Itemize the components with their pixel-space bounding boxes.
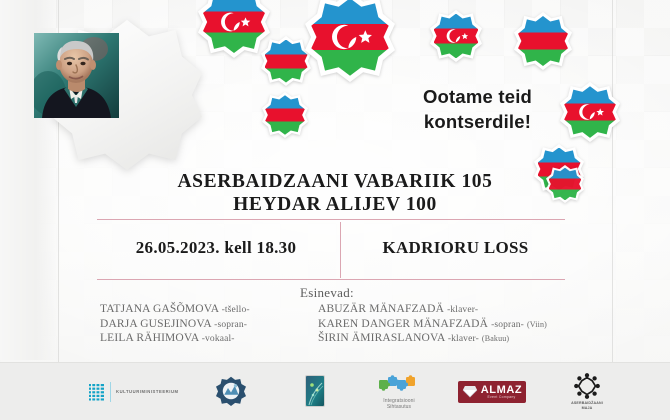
list-item: LEILA RÄHIMOVA -vokaal- [100,332,250,347]
performer-city: (Bakuu) [482,334,509,343]
logo-integratsiooni-sihtasutus: Integratsiooni Sihtasutus [356,374,442,410]
flag-star-shape [198,0,270,58]
flag-star-top-left [198,0,270,58]
puzzle-pieces-icon [378,374,420,396]
list-item: ABUZÄR MÄNAFZADÄ -klaver- [318,303,547,318]
logo-label: Integratsiooni Sihtasutus [383,398,414,410]
performers-heading: Esinevad: [300,285,354,301]
logo-ornament [188,376,274,408]
divider-top [97,219,565,220]
headline-line-2: HEYDAR ALIJEV 100 [0,193,670,216]
flag-star-small-upper [261,36,311,86]
crescent-star-emblem-icon [305,0,395,82]
performer-name: LEILA RÄHIMOVA [100,332,199,344]
divider-vertical [340,222,341,278]
flag-bands [265,40,308,83]
performer-role: -tšello- [222,305,250,315]
flag-star-shape [262,92,308,138]
page-title: ASERBAIDZAANI VABARIIK 105 HEYDAR ALIJEV… [0,170,670,216]
crescent-star-emblem-icon [198,0,270,58]
performer-name: KAREN DANGER MÄNAFZADÄ [318,318,488,330]
logo-teal-banner [274,375,356,409]
logo-almaz: ALMAZ Event Company [442,381,542,403]
performer-role: -sopran- [214,320,247,330]
performer-role: -vokaal- [202,334,235,344]
logo-label: ASERBAIDŽAANI MAJA [571,401,603,410]
headline-line-1: ASERBAIDZAANI VABARIIK 105 [0,170,670,193]
logo-label: ALMAZ [481,385,523,395]
crescent-star-emblem-icon [560,82,620,142]
flag-star-shape [430,10,482,62]
tagline: Ootame teid kontserdile! [390,84,565,134]
flag-star-right-upper [514,12,572,70]
event-datetime: 26.05.2023. kell 18.30 [97,238,335,258]
logo-divider [110,382,111,402]
flag-star-top-right [430,10,482,62]
logo-aserbaidzaani-maja: ASERBAIDŽAANI MAJA [542,373,632,410]
performer-name: ABUZÄR MÄNAFZADÄ [318,303,444,315]
portrait-image [34,33,119,118]
ministry-waves-icon [88,382,105,401]
ornament-star-icon [216,376,246,406]
performers-column-right: ABUZÄR MÄNAFZADÄ -klaver- KAREN DANGER M… [318,303,547,347]
performers-column-left: TATJANA GAŠÕMOVA -tšello- DARJA GUSEJINO… [100,303,250,347]
concert-poster: Ootame teid kontserdile! ASERBAIDZAANI V… [0,0,670,420]
logo-kultuuriministeerium: KULTUURIMINISTEERIUM [88,382,188,402]
flag-star-bottom-center [262,92,308,138]
diamond-icon [462,385,478,398]
footer-logo-row: KULTUURIMINISTEERIUM [0,363,670,420]
crescent-star-emblem-icon [430,10,482,62]
performer-name: TATJANA GAŠÕMOVA [100,303,219,315]
tagline-line-2: kontserdile! [390,109,565,134]
performer-city: (Viin) [527,320,547,329]
flag-star-shape [305,0,395,82]
flag-star-shape [514,12,572,70]
performer-name: ŠIRIN ÄMIRASLANOVA [318,332,445,344]
almaz-text-block: ALMAZ Event Company [481,385,523,399]
divider-bottom [97,279,565,280]
avatar [34,33,119,118]
logo-label: KULTUURIMINISTEERIUM [116,389,179,394]
almaz-badge: ALMAZ Event Company [458,381,526,403]
performer-role: -klaver- [447,305,478,315]
performer-name: DARJA GUSEJINOVA [100,318,211,330]
performer-role: -klaver- [448,334,479,344]
list-item: ŠIRIN ÄMIRASLANOVA -klaver- (Bakuu) [318,332,547,347]
tagline-line-1: Ootame teid [390,84,565,109]
flag-star-right-mid [560,82,620,142]
flag-bands [518,16,568,66]
list-item: DARJA GUSEJINOVA -sopran- [100,318,250,333]
performer-role: -sopran- [491,320,524,330]
footer-sponsor-bar: KULTUURIMINISTEERIUM [0,362,670,420]
event-venue: KADRIORU LOSS [346,238,565,258]
azerbaijan-house-ornament-icon [574,373,600,399]
flag-star-shape [560,82,620,142]
flag-star-large-center [305,0,395,82]
list-item: KAREN DANGER MÄNAFZADÄ -sopran- (Viin) [318,318,547,333]
teal-banner-icon [305,375,325,407]
list-item: TATJANA GAŠÕMOVA -tšello- [100,303,250,318]
flag-bands [265,95,305,135]
flag-star-shape [261,36,311,86]
